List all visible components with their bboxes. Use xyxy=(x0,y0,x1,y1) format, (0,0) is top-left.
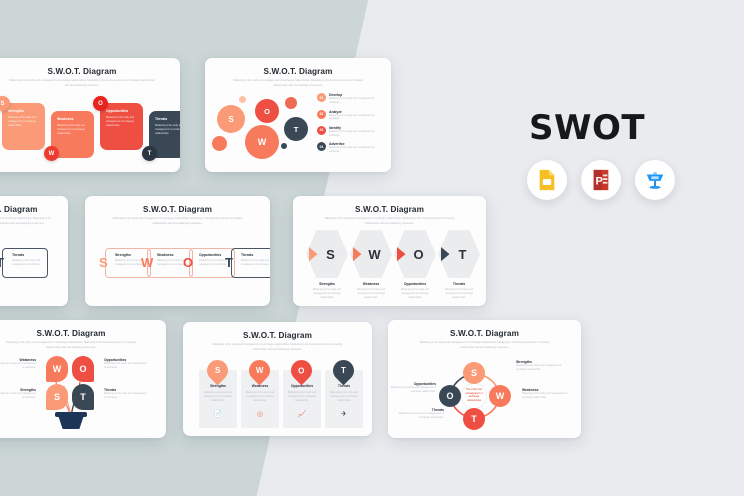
hexagon-shape: S xyxy=(306,230,348,278)
slide-card-bracket-boxes[interactable]: S.W.O.T. Diagram Marketing is the study … xyxy=(85,196,270,306)
slide-card-pins[interactable]: S.W.O.T. Diagram Marketing is the study … xyxy=(183,322,372,436)
bracket-box-threats[interactable]: Threats Marketing is the study and manag… xyxy=(231,248,270,278)
cycle-label-opportunities[interactable]: Opportunities Marketing is the study and… xyxy=(388,382,436,394)
bubble-weakness[interactable]: W xyxy=(245,125,279,159)
svg-text:P: P xyxy=(596,176,603,188)
slide-card-bracket-boxes-partial[interactable]: S.W.O.T. Diagram Marketing is the study … xyxy=(0,196,68,306)
hex-label: Strengths xyxy=(305,282,349,286)
hex-letter: O xyxy=(413,247,423,262)
legend-item-analyze[interactable]: 02 Analyze Marketing is the study and ma… xyxy=(317,110,385,122)
bubble-opportunities[interactable]: O xyxy=(255,99,279,123)
hexagon-shape: O xyxy=(394,230,436,278)
hex-item-weakness[interactable]: W Weakness Marketing is the study and ma… xyxy=(349,230,393,300)
cycle-node-opportunities[interactable]: O xyxy=(439,385,461,407)
label-body: Marketing is the study and management of… xyxy=(0,392,36,400)
arrow-icon xyxy=(441,247,450,262)
swot-block-opportunities[interactable]: Opportunities Marketing is the study and… xyxy=(100,103,143,150)
card-body: Marketing is the study and management of… xyxy=(287,391,317,403)
leaf-letter: W xyxy=(53,364,62,374)
cycle-node-weakness[interactable]: W xyxy=(489,385,511,407)
bracket-letter-strengths: S xyxy=(99,255,108,270)
bubble-accent-small-4 xyxy=(281,143,287,149)
leaf-strengths[interactable]: S xyxy=(46,384,68,410)
bubble-letter: O xyxy=(264,107,270,116)
legend-index: 02 xyxy=(320,112,324,116)
slide-card-diamond-cycle[interactable]: S.W.O.T. Diagram Marketing is the study … xyxy=(388,320,581,438)
legend-badge: 02 xyxy=(317,110,326,119)
hex-item-strengths[interactable]: S Strengths Marketing is the study and m… xyxy=(305,230,349,300)
pins-area: Strengths Marketing is the study and man… xyxy=(183,358,372,434)
cycle-node-threats[interactable]: T xyxy=(463,408,485,430)
hexagon-shape: T xyxy=(438,230,480,278)
cycle-area: The study and management of exchange rel… xyxy=(388,352,581,430)
block-label: Opportunities xyxy=(106,109,137,113)
bubble-letter: W xyxy=(258,137,267,147)
badge-weakness: W xyxy=(44,146,59,161)
slide-subtitle: Marketing is the study and management of… xyxy=(413,341,556,350)
box-label: Threats xyxy=(241,253,270,257)
label-body: Marketing is the study and management of… xyxy=(104,392,148,400)
hex-body: Marketing is the study and management of… xyxy=(305,288,349,300)
bubble-legend: 01 Develop Marketing is the study and ma… xyxy=(317,93,385,159)
leaf-opportunities[interactable]: O xyxy=(72,356,94,382)
leaf-threats[interactable]: T xyxy=(72,384,94,410)
slide-subtitle: Marketing is the study and management of… xyxy=(208,343,348,352)
slide-title: S.W.O.T. Diagram xyxy=(183,331,372,340)
slide-title: S.W.O.T. Diagram xyxy=(0,67,180,76)
badge-letter: S xyxy=(0,101,4,107)
label-body: Marketing is the study and management of… xyxy=(522,392,570,400)
slide-card-bubble-chart[interactable]: S.W.O.T. Diagram Marketing is the study … xyxy=(205,58,391,172)
bracket-letter-opportunities: O xyxy=(183,255,193,270)
slide-subtitle: Marketing is the study and management of… xyxy=(0,217,51,226)
legend-badge: 03 xyxy=(317,126,326,135)
box-label: Threats xyxy=(12,253,43,257)
slide-title: S.W.O.T. Diagram xyxy=(205,67,391,76)
powerpoint-glyph: P xyxy=(591,169,611,191)
cycle-label-threats[interactable]: Threats Marketing is the study and manag… xyxy=(396,408,444,420)
target-icon: ◎ xyxy=(245,410,275,418)
slide-title: S.W.O.T. Diagram xyxy=(85,205,270,214)
block-label: Strengths xyxy=(8,109,39,113)
bar-chart-icon: 📈 xyxy=(287,410,317,418)
bracket-letter-weakness: W xyxy=(141,255,153,270)
card-body: Marketing is the study and management of… xyxy=(245,391,275,403)
slide-card-hexagons[interactable]: S.W.O.T. Diagram Marketing is the study … xyxy=(293,196,486,306)
document-icon: 📄 xyxy=(203,410,233,418)
block-body: Marketing is the study and management of… xyxy=(8,116,39,128)
bubble-threats[interactable]: T xyxy=(284,117,308,141)
app-icons-row: P xyxy=(527,160,675,200)
slide-title: S.W.O.T. Diagram xyxy=(388,329,581,338)
slide-header: S.W.O.T. Diagram Marketing is the study … xyxy=(0,58,180,88)
blocks-area: Strengths Marketing is the study and man… xyxy=(0,94,180,160)
hex-label: Opportunities xyxy=(393,282,437,286)
legend-body: Marketing is the study and management of… xyxy=(329,130,385,138)
bubble-accent-small-2 xyxy=(285,97,297,109)
card-body: Marketing is the study and management of… xyxy=(203,391,233,403)
pin-letter: T xyxy=(341,366,346,375)
hex-label: Weakness xyxy=(349,282,393,286)
plant-area: W S O T Weakness Marketing is the study … xyxy=(0,352,166,430)
node-letter: S xyxy=(471,368,477,378)
core-text: The study and management of exchange rel… xyxy=(464,389,484,403)
cycle-label-weakness[interactable]: Weakness Marketing is the study and mana… xyxy=(522,388,570,400)
box-body: Marketing is the study and management of… xyxy=(12,259,43,267)
block-body: Marketing is the study and management of… xyxy=(57,124,88,136)
leaf-letter: T xyxy=(80,392,86,402)
slide-card-plant[interactable]: S.W.O.T. Diagram Marketing is the study … xyxy=(0,320,166,438)
label-body: Marketing is the study and management of… xyxy=(0,362,36,370)
plant-label-weakness[interactable]: Weakness Marketing is the study and mana… xyxy=(0,358,36,370)
hex-letter: T xyxy=(459,247,467,262)
legend-index: 01 xyxy=(320,96,324,100)
box-body: Marketing is the study and management of… xyxy=(241,259,270,267)
bubble-accent-small-1 xyxy=(239,96,246,103)
block-label: Weakness xyxy=(57,117,88,121)
hex-body: Marketing is the study and management of… xyxy=(349,288,393,300)
label-body: Marketing is the study and management of… xyxy=(396,412,444,420)
bubble-strengths[interactable]: S xyxy=(217,105,245,133)
brackets-area: Strengths Marketing is the study and man… xyxy=(85,242,270,282)
node-letter: T xyxy=(471,414,477,424)
bubble-letter: T xyxy=(294,125,299,134)
slide-subtitle: Marketing is the study and management of… xyxy=(229,79,367,88)
card-body: Marketing is the study and management of… xyxy=(329,391,359,403)
brand-block: SWOT xyxy=(529,108,645,148)
hex-body: Marketing is the study and management of… xyxy=(393,288,437,300)
node-letter: O xyxy=(446,391,453,401)
legend-item-advertise[interactable]: 04 Advertise Marketing is the study and … xyxy=(317,142,385,154)
legend-body: Marketing is the study and management of… xyxy=(329,97,385,105)
leaf-weakness[interactable]: W xyxy=(46,356,68,382)
hex-item-opportunities[interactable]: O Opportunities Marketing is the study a… xyxy=(393,230,437,300)
hex-label: Threats xyxy=(437,282,481,286)
slide-header: S.W.O.T. Diagram Marketing is the study … xyxy=(183,322,372,352)
bracket-letter-threats: T xyxy=(0,255,4,270)
leaf-letter: O xyxy=(79,364,86,374)
slide-card-rounded-blocks[interactable]: S.W.O.T. Diagram Marketing is the study … xyxy=(0,58,180,172)
badge-letter: T xyxy=(148,151,152,157)
plant-pot-rim xyxy=(55,412,87,417)
slide-title: S.W.O.T. Diagram xyxy=(293,205,486,214)
legend-body: Marketing is the study and management of… xyxy=(329,146,385,154)
cycle-node-strengths[interactable]: S xyxy=(463,362,485,384)
bubbles-area: S W O T 01 Develop Marketing is the stud… xyxy=(205,91,391,163)
block-body: Marketing is the study and management of… xyxy=(106,116,137,128)
node-letter: W xyxy=(496,391,505,401)
legend-item-develop[interactable]: 01 Develop Marketing is the study and ma… xyxy=(317,93,385,105)
label-body: Marketing is the study and management of… xyxy=(388,386,436,394)
swot-block-strengths[interactable]: Strengths Marketing is the study and man… xyxy=(2,103,45,150)
hex-letter: W xyxy=(368,247,380,262)
slide-title: S.W.O.T. Diagram xyxy=(0,329,166,338)
legend-index: 03 xyxy=(320,128,324,132)
cycle-core: The study and management of exchange rel… xyxy=(461,383,487,409)
bubble-letter: S xyxy=(228,115,233,124)
badge-threats: T xyxy=(142,146,157,161)
slide-subtitle: Marketing is the study and management of… xyxy=(109,217,246,226)
legend-badge: 01 xyxy=(317,93,326,102)
brand-title: SWOT xyxy=(529,108,645,148)
badge-letter: W xyxy=(49,151,55,157)
legend-badge: 04 xyxy=(317,142,326,151)
pin-letter: O xyxy=(298,366,304,375)
slide-subtitle: Marketing is the study and management of… xyxy=(9,79,154,88)
plant-label-threats[interactable]: Threats Marketing is the study and manag… xyxy=(104,388,148,400)
arrow-icon xyxy=(309,247,318,262)
hexagons-area: S Strengths Marketing is the study and m… xyxy=(293,230,486,306)
arrow-icon xyxy=(353,247,362,262)
legend-index: 04 xyxy=(320,145,324,149)
brackets-area: Opportunities Marketing is the study and… xyxy=(0,242,68,282)
slide-header: S.W.O.T. Diagram Marketing is the study … xyxy=(293,196,486,226)
arrow-icon xyxy=(397,247,406,262)
plant-label-opportunities[interactable]: Opportunities Marketing is the study and… xyxy=(104,358,148,370)
slide-subtitle: Marketing is the study and management of… xyxy=(318,217,461,226)
cycle-label-strengths[interactable]: Strengths Marketing is the study and man… xyxy=(516,360,564,372)
block-label: Threats xyxy=(155,117,180,121)
plant-label-strengths[interactable]: Strengths Marketing is the study and man… xyxy=(0,388,36,400)
pin-letter: W xyxy=(256,366,264,375)
bracket-box-threats[interactable]: Threats Marketing is the study and manag… xyxy=(2,248,48,278)
leaf-letter: S xyxy=(54,392,60,402)
hex-letter: S xyxy=(326,247,335,262)
slide-header: S.W.O.T. Diagram Marketing is the study … xyxy=(205,58,391,88)
google-slides-glyph xyxy=(537,169,557,191)
legend-body: Marketing is the study and management of… xyxy=(329,114,385,122)
hexagon-shape: W xyxy=(350,230,392,278)
badge-letter: O xyxy=(98,101,103,107)
keynote-glyph xyxy=(644,169,666,191)
bubble-accent-small-3 xyxy=(212,136,227,151)
label-body: Marketing is the study and management of… xyxy=(104,362,148,370)
powerpoint-icon[interactable]: P xyxy=(581,160,621,200)
block-body: Marketing is the study and management of… xyxy=(155,124,180,136)
slide-header: S.W.O.T. Diagram Marketing is the study … xyxy=(0,196,68,226)
slide-title: S.W.O.T. Diagram xyxy=(0,205,68,214)
hex-body: Marketing is the study and management of… xyxy=(437,288,481,300)
slide-header: S.W.O.T. Diagram Marketing is the study … xyxy=(0,320,166,350)
label-body: Marketing is the study and management of… xyxy=(516,364,564,372)
legend-item-identify[interactable]: 03 Identify Marketing is the study and m… xyxy=(317,126,385,138)
slide-subtitle: Marketing is the study and management of… xyxy=(1,341,142,350)
slide-header: S.W.O.T. Diagram Marketing is the study … xyxy=(388,320,581,350)
google-slides-icon[interactable] xyxy=(527,160,567,200)
bracket-letter-threats: T xyxy=(225,255,233,270)
keynote-icon[interactable] xyxy=(635,160,675,200)
hex-item-threats[interactable]: T Threats Marketing is the study and man… xyxy=(437,230,481,300)
rocket-icon: ✈ xyxy=(329,410,359,418)
slide-header: S.W.O.T. Diagram Marketing is the study … xyxy=(85,196,270,226)
pin-letter: S xyxy=(215,366,220,375)
badge-opportunities: O xyxy=(93,96,108,111)
